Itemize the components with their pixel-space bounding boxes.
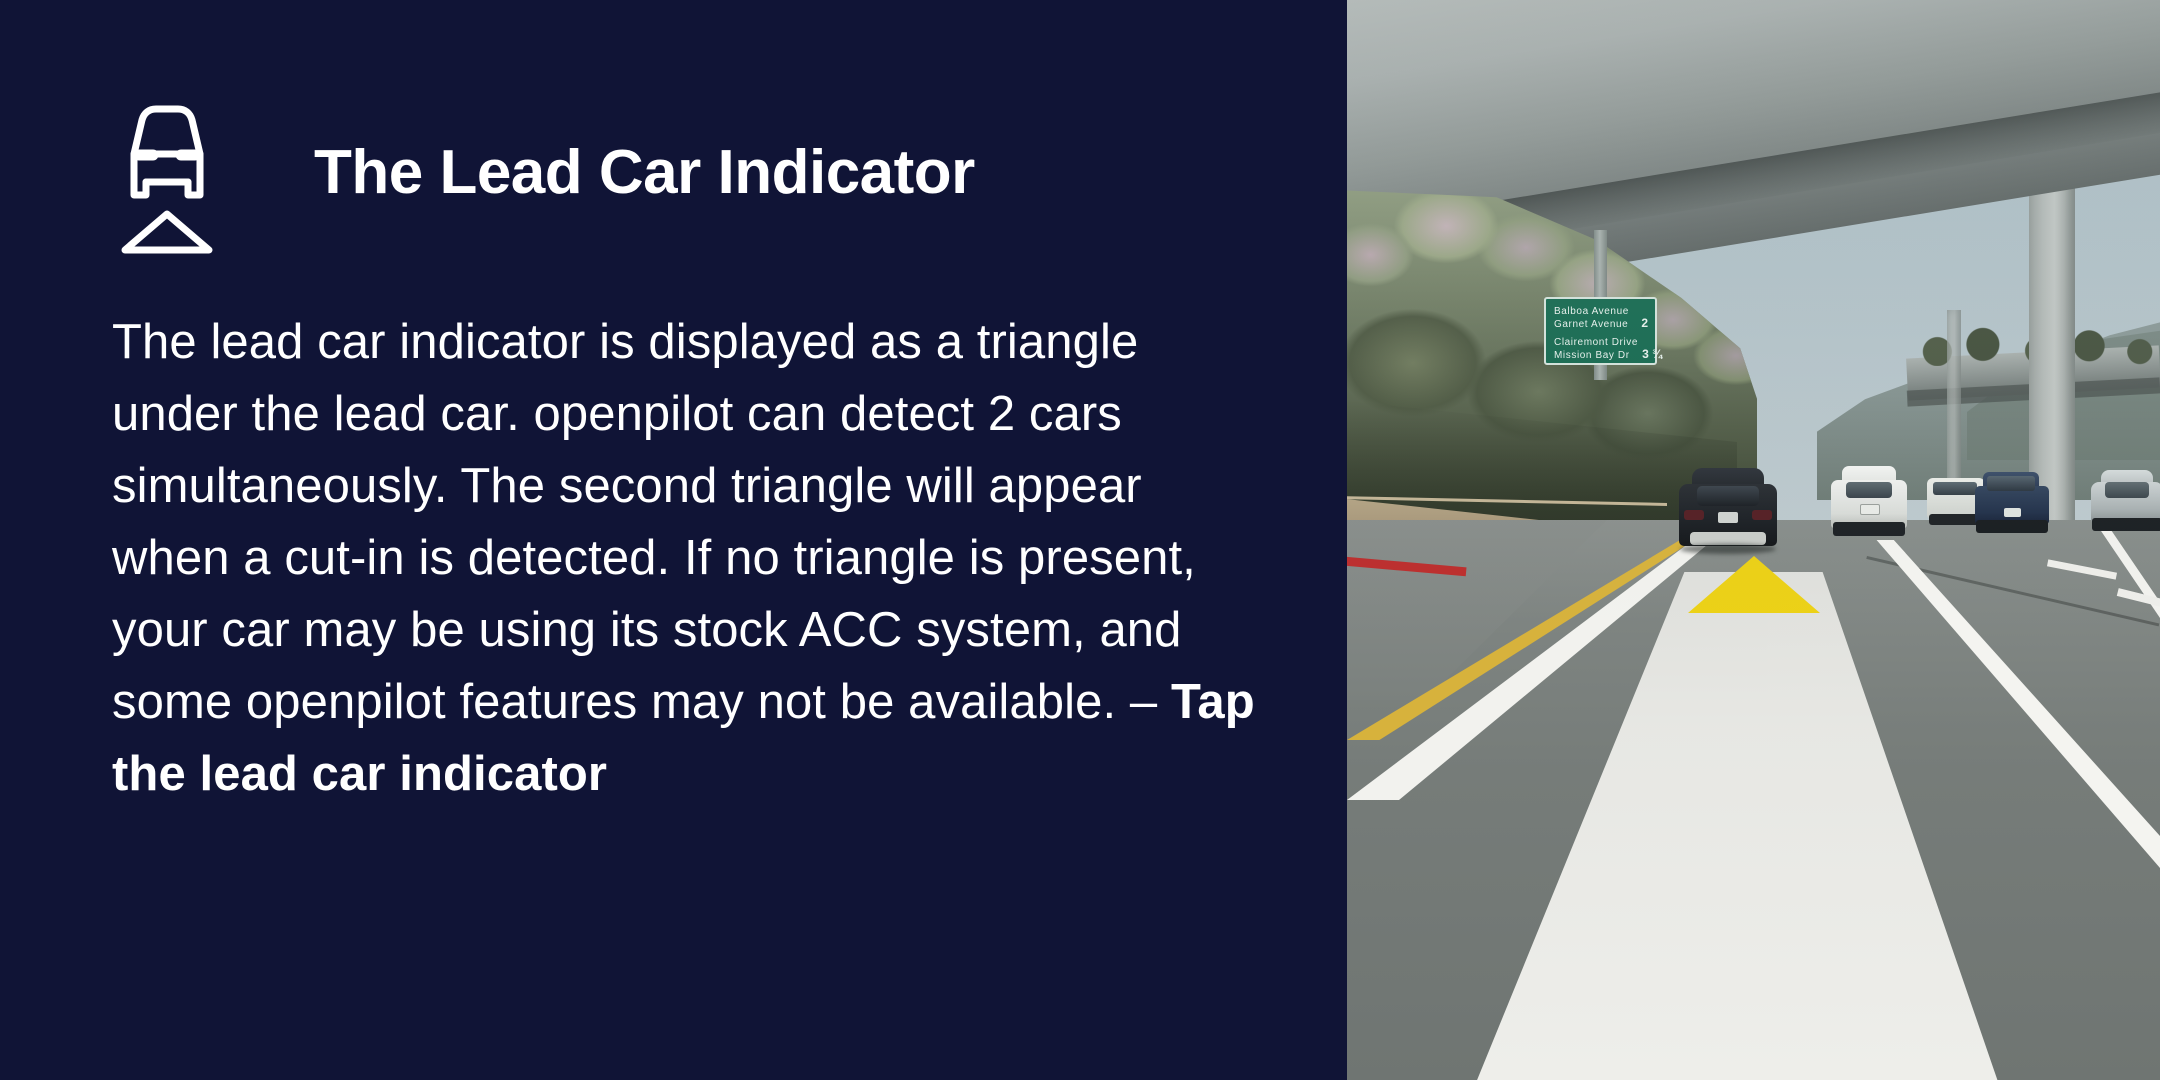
sign-block-2-lines: Clairemont Drive Mission Bay Dr bbox=[1554, 336, 1638, 362]
lead-car-shadow bbox=[1680, 544, 1776, 554]
vehicle-silver-suv bbox=[2089, 468, 2160, 534]
silver-suv-rear-window bbox=[2105, 482, 2149, 498]
vehicle-blue-pickup bbox=[1973, 470, 2051, 536]
body-text: The lead car indicator is displayed as a… bbox=[112, 306, 1272, 810]
blue-pickup-wheels bbox=[1976, 520, 2048, 533]
lead-car-with-triangle-icon bbox=[112, 102, 222, 257]
sign-block-1-lines: Balboa Avenue Garnet Avenue bbox=[1554, 305, 1629, 331]
sign-distance-1: 2 bbox=[1637, 316, 1648, 331]
sign-line-clairemont: Clairemont Drive bbox=[1554, 336, 1638, 349]
blue-pickup-license-plate bbox=[2004, 508, 2021, 517]
white-suv-rear-window bbox=[1846, 482, 1892, 498]
blue-pickup-bed bbox=[1975, 486, 2049, 524]
sign-block-1: Balboa Avenue Garnet Avenue 2 bbox=[1554, 305, 1648, 331]
lead-car-license-plate bbox=[1718, 512, 1738, 523]
vehicle-white-suv bbox=[1829, 466, 1909, 538]
lead-car-taillight-left bbox=[1684, 510, 1704, 520]
lead-car-triangle-indicator[interactable] bbox=[1688, 556, 1820, 613]
lead-car bbox=[1676, 466, 1780, 552]
silver-suv-wheels bbox=[2092, 518, 2160, 531]
white-van-rear-window bbox=[1933, 482, 1977, 495]
page-title: The Lead Car Indicator bbox=[314, 142, 975, 204]
white-suv-wheels bbox=[1833, 522, 1905, 536]
lead-car-rear-window bbox=[1697, 486, 1759, 506]
lead-car-taillight-right bbox=[1752, 510, 1772, 520]
sign-block-2: Clairemont Drive Mission Bay Dr 3 ¾ bbox=[1554, 336, 1648, 362]
road-scene-photo: Balboa Avenue Garnet Avenue 2 Clairemont… bbox=[1347, 0, 2160, 1080]
highway-sign: Balboa Avenue Garnet Avenue 2 Clairemont… bbox=[1544, 297, 1657, 365]
sign-line-balboa: Balboa Avenue bbox=[1554, 305, 1629, 318]
body-text-plain: The lead car indicator is displayed as a… bbox=[112, 315, 1196, 729]
info-panel: The Lead Car Indicator The lead car indi… bbox=[0, 0, 1347, 1080]
sign-line-mission-bay: Mission Bay Dr bbox=[1554, 349, 1638, 362]
blue-pickup-rear-window bbox=[1987, 476, 2035, 491]
slide-root: The Lead Car Indicator The lead car indi… bbox=[0, 0, 2160, 1080]
white-suv-license-plate bbox=[1860, 504, 1880, 515]
header-row: The Lead Car Indicator bbox=[112, 100, 975, 257]
sign-distance-2: 3 ¾ bbox=[1638, 347, 1662, 362]
sign-line-garnet: Garnet Avenue bbox=[1554, 318, 1629, 331]
